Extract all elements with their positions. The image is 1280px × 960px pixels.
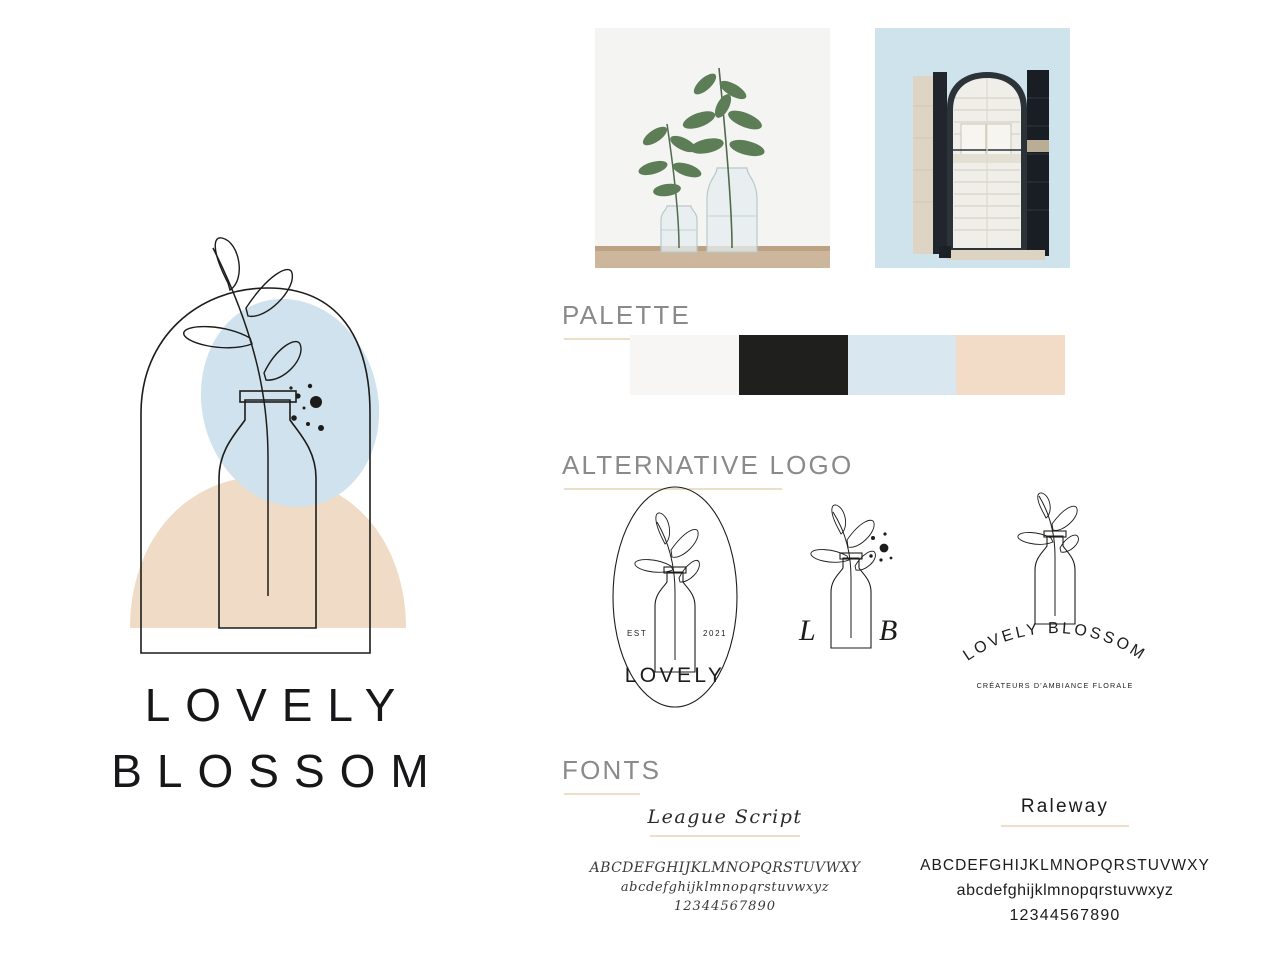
- window-photo-artwork: [875, 28, 1070, 268]
- fonts-block: League Script ABCDEFGHIJKLMNOPQRSTUVWXY …: [540, 748, 1280, 948]
- horiz-stem: [1039, 496, 1055, 616]
- monogram-stem: [833, 512, 851, 638]
- swatch-off-white[interactable]: [630, 335, 739, 395]
- photo-branches-in-glass-vases: [595, 28, 830, 268]
- wordmark-line-1: LOVELY: [0, 672, 540, 738]
- swatch-pale-blue[interactable]: [848, 335, 957, 395]
- swatch-charcoal-black[interactable]: [739, 335, 848, 395]
- sans-numerals-specimen: 12344567890: [870, 903, 1260, 928]
- alternative-logo-row: EST 2021 LOVELY: [560, 482, 1260, 712]
- primary-logo-panel: LOVELY BLOSSOM: [0, 0, 540, 960]
- sans-font-rule: [1001, 825, 1129, 827]
- sans-font-name: Raleway: [870, 796, 1260, 818]
- palette-heading: PALETTE: [562, 300, 691, 331]
- arched-wordmark-artwork: LOVELY BLOSSOM CRÉATEURS D'AMBIANCE FLOR…: [940, 492, 1170, 697]
- script-font-name: League Script: [560, 806, 890, 828]
- script-uppercase-specimen: ABCDEFGHIJKLMNOPQRSTUVWXY: [560, 859, 890, 878]
- alternative-logo-heading: ALTERNATIVE LOGO: [562, 450, 853, 481]
- font-specimen-sans: Raleway ABCDEFGHIJKLMNOPQRSTUVWXY abcdef…: [870, 796, 1260, 928]
- sans-lowercase-specimen: abcdefghijklmnopqrstuvwxyz: [870, 878, 1260, 903]
- monogram-letter-right: B: [879, 614, 897, 647]
- primary-wordmark: LOVELY BLOSSOM: [0, 672, 540, 804]
- script-font-rule: [650, 835, 800, 837]
- monogram-letter-left: L: [798, 614, 816, 647]
- leaf-top-left: [215, 238, 239, 290]
- alt-logo-arched-wordmark[interactable]: LOVELY BLOSSOM CRÉATEURS D'AMBIANCE FLOR…: [940, 492, 1170, 697]
- badge-word-label: LOVELY: [625, 664, 726, 687]
- sans-uppercase-specimen: ABCDEFGHIJKLMNOPQRSTUVWXY: [870, 853, 1260, 878]
- alt-logo-monogram[interactable]: L B: [785, 500, 915, 675]
- palette-swatch-row: [630, 335, 1065, 395]
- script-lowercase-specimen: abcdefghijklmnopqrstuvwxyz: [560, 878, 890, 897]
- bottle-with-sprig-illustration: [118, 228, 418, 668]
- horiz-wordmark-label: LOVELY BLOSSOM: [960, 620, 1149, 664]
- script-numerals-specimen: 12344567890: [560, 897, 890, 916]
- photo-shuttered-arched-window: [875, 28, 1070, 268]
- primary-logo-mark: [118, 228, 418, 668]
- wordmark-line-2: BLOSSOM: [0, 738, 540, 804]
- alt-logo-oval-badge[interactable]: EST 2021 LOVELY: [595, 482, 755, 712]
- monogram-dot-cluster: [869, 532, 892, 561]
- badge-year-label: 2021: [703, 629, 727, 638]
- badge-est-label: EST: [627, 629, 647, 638]
- font-specimen-script: League Script ABCDEFGHIJKLMNOPQRSTUVWXY …: [560, 806, 890, 916]
- style-guide-column: PALETTE ALTERNATIVE LOGO EST 2021: [540, 0, 1280, 960]
- swatch-peach-sand[interactable]: [956, 335, 1065, 395]
- moodboard: [595, 28, 1195, 268]
- horiz-tagline-label: CRÉATEURS D'AMBIANCE FLORALE: [977, 681, 1134, 690]
- monogram-artwork: L B: [785, 500, 915, 675]
- vases-photo-artwork: [595, 28, 830, 268]
- oval-badge-artwork: EST 2021 LOVELY: [595, 482, 755, 712]
